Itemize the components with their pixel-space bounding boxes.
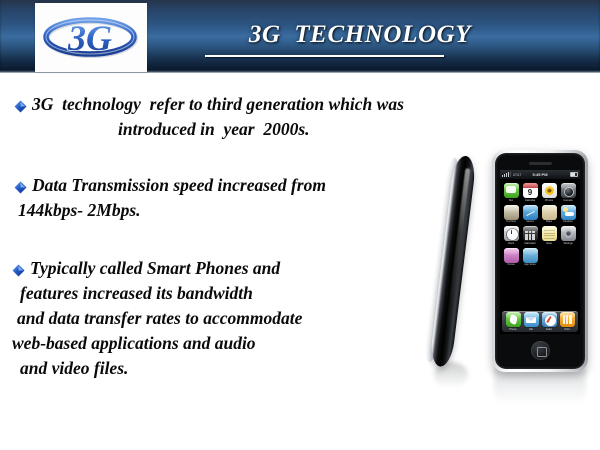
- app-label: Text: [509, 199, 514, 202]
- app-icon-clock[interactable]: Clock: [503, 226, 519, 245]
- app-glyph: [542, 312, 557, 327]
- phone-front-reflection: [494, 368, 586, 404]
- svg-text:3G: 3G: [67, 18, 112, 58]
- logo-box: 3G: [35, 3, 147, 72]
- app-icon-calendar[interactable]: 9Calendar: [522, 183, 538, 202]
- status-bar: AT&T 5:45 PM: [500, 170, 580, 179]
- app-glyph: [561, 183, 576, 198]
- 3g-logo-icon: 3G: [43, 13, 139, 63]
- bullet-text: and data transfer rates to accommodate: [17, 308, 302, 328]
- app-label: Mail: [529, 328, 534, 331]
- app-label: Calculator: [524, 242, 536, 245]
- app-icon-maps[interactable]: Maps: [541, 205, 557, 224]
- app-icon-notes[interactable]: Notes: [541, 226, 557, 245]
- bullet-line: introduced in year 2000s.: [14, 117, 544, 142]
- bullet-line: Data Transmission speed increased from: [14, 173, 444, 198]
- iphone-product-image: AT&T 5:45 PM Text9CalendarPhotosCameraYo…: [420, 140, 600, 400]
- app-label: Photos: [545, 199, 553, 202]
- app-icon-app-store[interactable]: App Store: [522, 248, 538, 267]
- app-glyph: 9: [523, 183, 538, 198]
- app-label: Settings: [563, 242, 572, 245]
- bullet-text: introduced in year 2000s.: [118, 119, 310, 139]
- app-glyph: [523, 248, 538, 263]
- bullet-text: Data Transmission speed increased from: [32, 175, 326, 195]
- app-glyph: [504, 226, 519, 241]
- iphone-front-face: AT&T 5:45 PM Text9CalendarPhotosCameraYo…: [492, 150, 588, 372]
- blue-diamond-bullet-icon: [12, 264, 25, 277]
- bullet-line: 3G technology refer to third generation …: [14, 92, 544, 117]
- bullet-line: and data transfer rates to accommodate: [12, 306, 452, 331]
- blue-diamond-bullet-icon: [14, 181, 27, 194]
- calendar-day-number: 9: [523, 188, 538, 198]
- bullet-line: 144kbps- 2Mbps.: [14, 198, 444, 223]
- app-label: Stocks: [526, 220, 534, 223]
- dock-icon-safari[interactable]: Safari: [541, 312, 557, 331]
- app-label: iPod: [564, 328, 569, 331]
- app-label: Notes: [546, 242, 553, 245]
- app-icon-stocks[interactable]: Stocks: [522, 205, 538, 224]
- app-glyph: [523, 205, 538, 220]
- app-label: Clock: [508, 242, 515, 245]
- bullet-block-2: Data Transmission speed increased from 1…: [14, 173, 444, 223]
- bullet-line: features increased its bandwidth: [12, 281, 452, 306]
- status-bar-clock: 5:45 PM: [500, 172, 580, 177]
- bullet-text: features increased its bandwidth: [20, 283, 253, 303]
- app-icon-settings[interactable]: Settings: [560, 226, 576, 245]
- app-icon-youtube[interactable]: YouTube: [503, 205, 519, 224]
- bullet-block-3: Typically called Smart Phones and featur…: [12, 256, 452, 381]
- page-title: 3G TECHNOLOGY: [160, 21, 560, 49]
- app-icon-text[interactable]: Text: [503, 183, 519, 202]
- app-icon-weather[interactable]: Weather: [560, 205, 576, 224]
- app-label: Maps: [546, 220, 552, 223]
- app-glyph: [542, 226, 557, 241]
- bullet-text: Typically called Smart Phones and: [30, 258, 280, 278]
- bullet-line: web-based applications and audio: [12, 331, 452, 356]
- app-icon-grid: Text9CalendarPhotosCameraYouTubeStocksMa…: [500, 180, 580, 266]
- app-glyph: [504, 183, 519, 198]
- gear-icon: [564, 229, 573, 238]
- earpiece-speaker: [529, 162, 552, 165]
- bullet-text: 3G technology refer to third generation …: [32, 94, 404, 114]
- title-underline: [205, 55, 444, 57]
- app-label: Phone: [509, 328, 517, 331]
- slide-canvas: 3G 3G TECHNOLOGY 3G technology refer to …: [0, 0, 600, 450]
- iphone-home-screen: AT&T 5:45 PM Text9CalendarPhotosCameraYo…: [500, 170, 580, 334]
- app-label: App Store: [524, 263, 536, 266]
- iphone-side-profile: [423, 154, 479, 368]
- bullet-text: web-based applications and audio: [12, 333, 256, 353]
- app-glyph: [506, 312, 521, 327]
- phone-front-bezel: AT&T 5:45 PM Text9CalendarPhotosCameraYo…: [495, 153, 585, 369]
- bullet-text: 144kbps- 2Mbps.: [18, 200, 141, 220]
- app-glyph: [542, 205, 557, 220]
- app-icon-camera[interactable]: Camera: [560, 183, 576, 202]
- bullet-line: and video files.: [12, 356, 452, 381]
- app-label: Camera: [563, 199, 572, 202]
- home-button-square-icon: [537, 347, 547, 357]
- app-glyph: [560, 312, 575, 327]
- app-label: iTunes: [507, 263, 515, 266]
- bullet-text: and video files.: [20, 358, 128, 378]
- app-icon-photos[interactable]: Photos: [541, 183, 557, 202]
- app-label: Weather: [563, 220, 573, 223]
- blue-diamond-bullet-icon: [14, 100, 27, 113]
- app-label: YouTube: [506, 220, 516, 223]
- app-label: Safari: [546, 328, 553, 331]
- app-icon-itunes[interactable]: iTunes: [503, 248, 519, 267]
- dock-icon-ipod[interactable]: iPod: [559, 312, 575, 331]
- app-glyph: [523, 226, 538, 241]
- app-glyph: [542, 183, 557, 198]
- app-glyph: [504, 248, 519, 263]
- app-glyph: [561, 205, 576, 220]
- dock-icon-mail[interactable]: Mail: [523, 312, 539, 331]
- app-icon-calculator[interactable]: Calculator: [522, 226, 538, 245]
- home-button[interactable]: [531, 341, 550, 360]
- bullet-block-1: 3G technology refer to third generation …: [14, 92, 544, 142]
- dock-icon-phone[interactable]: Phone: [505, 312, 521, 331]
- app-glyph: [561, 226, 576, 241]
- app-glyph: [524, 312, 539, 327]
- app-dock: PhoneMailSafariiPod: [502, 311, 578, 332]
- app-label: Calendar: [525, 199, 536, 202]
- bullet-line: Typically called Smart Phones and: [12, 256, 452, 281]
- app-glyph: [504, 205, 519, 220]
